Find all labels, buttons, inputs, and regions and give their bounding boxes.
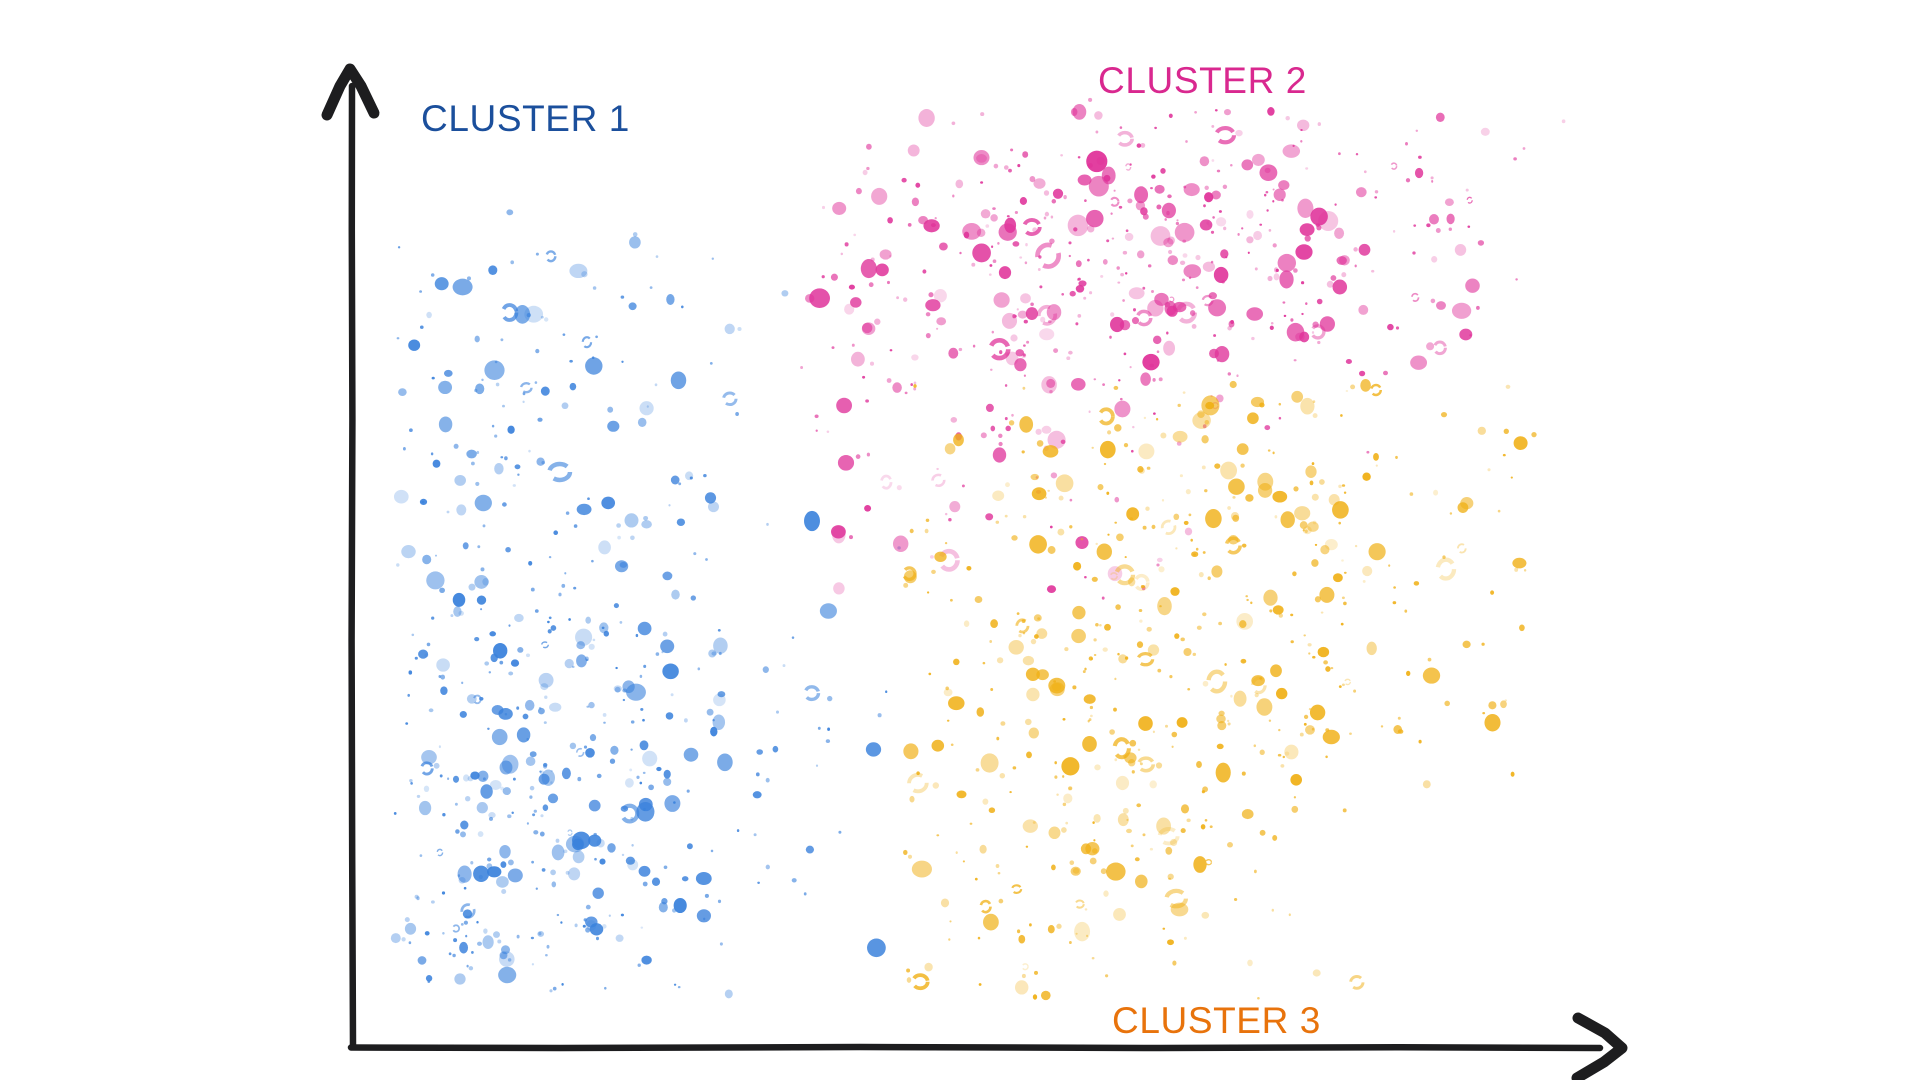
data-point — [607, 843, 615, 853]
data-point — [757, 882, 760, 884]
data-point-speck — [1240, 463, 1244, 467]
data-point — [1169, 297, 1173, 302]
data-point — [1383, 371, 1388, 376]
data-point — [1343, 808, 1347, 812]
data-point — [827, 728, 830, 731]
data-point — [655, 383, 658, 386]
data-point — [822, 206, 825, 209]
data-point — [1469, 334, 1472, 336]
data-point — [405, 923, 416, 935]
data-point — [500, 760, 513, 774]
data-point — [698, 667, 701, 670]
data-point — [1255, 267, 1258, 270]
data-point — [1239, 620, 1246, 628]
data-point — [1045, 212, 1049, 217]
data-point — [1325, 666, 1330, 672]
data-point — [989, 807, 995, 813]
data-point — [1044, 216, 1047, 219]
data-point — [1103, 647, 1108, 651]
data-point — [1367, 642, 1377, 655]
data-point — [687, 843, 693, 849]
data-point — [528, 561, 532, 566]
data-point — [1009, 640, 1024, 655]
data-point-speck — [585, 927, 590, 932]
data-point — [973, 150, 989, 165]
data-point — [1012, 241, 1019, 246]
data-point — [1185, 528, 1192, 536]
data-point — [666, 712, 674, 719]
data-point — [1004, 218, 1016, 233]
data-point-speck — [1088, 98, 1092, 102]
data-point — [1241, 659, 1247, 664]
data-point — [841, 253, 843, 256]
data-point — [1393, 586, 1396, 589]
data-point — [530, 751, 537, 757]
data-point — [1165, 725, 1168, 728]
data-point — [652, 878, 660, 887]
data-point — [1053, 680, 1056, 682]
data-point — [1562, 119, 1566, 123]
data-point — [1023, 344, 1026, 346]
data-point — [1341, 623, 1344, 626]
data-point — [1184, 264, 1202, 278]
data-point — [1229, 321, 1235, 328]
data-point — [756, 772, 760, 776]
data-point — [1201, 824, 1206, 829]
data-point — [664, 866, 668, 870]
data-point — [1005, 417, 1008, 420]
data-point — [484, 661, 489, 665]
data-point — [1458, 502, 1469, 513]
data-point — [625, 778, 634, 788]
data-point — [1362, 566, 1372, 576]
data-point — [460, 821, 468, 830]
data-point — [956, 791, 966, 799]
data-point — [616, 523, 621, 527]
data-point — [1036, 628, 1047, 639]
data-point — [1023, 656, 1034, 665]
data-point — [1038, 268, 1041, 271]
data-point — [682, 876, 689, 881]
data-point — [499, 845, 510, 858]
data-point — [1208, 576, 1211, 580]
data-point — [1272, 835, 1277, 841]
data-point — [1369, 543, 1386, 560]
data-point — [551, 625, 557, 631]
data-point — [549, 617, 552, 620]
data-point — [867, 939, 886, 958]
data-point — [1412, 294, 1419, 301]
data-point — [1290, 774, 1302, 786]
data-point — [535, 609, 539, 613]
data-point — [540, 814, 543, 817]
data-point — [477, 942, 482, 946]
data-point — [949, 501, 960, 512]
data-point — [1075, 322, 1078, 325]
data-point — [1342, 597, 1345, 600]
data-point — [1339, 685, 1342, 688]
data-point — [1068, 351, 1073, 355]
data-point — [1212, 159, 1215, 162]
data-point — [549, 703, 561, 712]
data-point-speck — [903, 583, 908, 588]
data-point — [1270, 664, 1282, 677]
data-point — [1342, 484, 1345, 487]
data-point — [562, 402, 569, 409]
data-point — [1033, 821, 1036, 824]
data-point — [453, 925, 459, 932]
data-point — [1251, 337, 1255, 340]
data-point — [1476, 306, 1480, 310]
data-point — [506, 209, 513, 215]
data-point — [1203, 296, 1213, 305]
data-point — [431, 452, 433, 455]
data-point-speck — [712, 719, 714, 721]
data-point — [548, 794, 558, 804]
data-point — [955, 180, 963, 189]
data-point — [720, 942, 723, 945]
data-point — [1137, 641, 1143, 648]
data-point — [836, 398, 852, 414]
data-point — [666, 294, 674, 305]
data-point — [1116, 776, 1129, 790]
data-point — [912, 198, 919, 207]
data-point — [1026, 846, 1028, 848]
data-point — [639, 866, 651, 877]
data-point — [1025, 261, 1027, 264]
data-point — [983, 662, 986, 665]
data-point — [1270, 326, 1274, 330]
data-point — [481, 567, 485, 571]
data-point — [516, 706, 519, 709]
data-point — [1170, 587, 1179, 596]
data-point — [1319, 587, 1334, 603]
data-point — [934, 289, 947, 302]
data-point — [1054, 761, 1057, 764]
data-point — [1031, 474, 1039, 480]
data-point — [440, 774, 443, 777]
data-point — [948, 696, 965, 710]
data-point — [892, 382, 902, 393]
data-point — [949, 920, 951, 922]
data-point — [933, 475, 945, 486]
data-point-speck — [887, 378, 892, 383]
data-point — [643, 516, 648, 521]
data-point — [409, 941, 412, 944]
data-point — [936, 468, 939, 470]
data-point — [577, 749, 584, 756]
data-point — [922, 269, 926, 273]
data-point — [463, 909, 472, 918]
data-point — [763, 666, 769, 673]
data-point — [1355, 264, 1357, 267]
data-point — [945, 542, 947, 544]
data-point — [1169, 675, 1172, 678]
data-point — [1184, 937, 1187, 940]
data-point — [998, 872, 1001, 874]
data-point — [871, 188, 887, 205]
data-point-speck — [1279, 613, 1283, 617]
data-point — [593, 833, 596, 836]
data-point — [903, 850, 907, 855]
data-point — [1163, 238, 1173, 247]
data-point — [1025, 719, 1032, 725]
data-point — [456, 504, 466, 515]
data-point-speck — [550, 870, 556, 876]
data-point-speck — [1000, 773, 1006, 779]
data-point — [1455, 244, 1466, 256]
data-point-speck — [1531, 432, 1536, 437]
data-point — [1291, 640, 1294, 643]
data-point — [604, 987, 606, 990]
data-point — [585, 357, 602, 374]
data-point — [1371, 270, 1374, 273]
data-point — [1227, 842, 1233, 847]
data-point — [1103, 259, 1108, 265]
data-point — [453, 938, 457, 942]
data-point — [1246, 210, 1253, 219]
data-point — [1366, 451, 1369, 454]
data-point — [1118, 813, 1129, 826]
data-point — [1247, 960, 1253, 967]
data-point — [1230, 695, 1232, 698]
data-point — [1153, 731, 1155, 734]
data-point — [1168, 255, 1178, 265]
data-point — [542, 770, 555, 786]
data-point — [1246, 236, 1253, 243]
data-point-speck — [1059, 496, 1064, 501]
data-point — [656, 767, 661, 771]
data-point — [1084, 199, 1087, 202]
data-point — [815, 415, 819, 419]
data-point — [469, 966, 473, 970]
data-point — [1033, 178, 1045, 189]
data-point — [640, 782, 643, 785]
data-point — [550, 781, 552, 784]
data-point — [1213, 334, 1216, 337]
data-point — [526, 757, 536, 767]
data-point — [507, 814, 511, 818]
data-point — [1187, 688, 1190, 691]
data-point — [437, 849, 442, 855]
data-point — [594, 858, 597, 861]
data-point — [1444, 701, 1450, 707]
data-point — [1515, 278, 1518, 280]
data-point — [986, 404, 994, 412]
data-point-speck — [1030, 303, 1034, 307]
data-point — [1060, 154, 1063, 156]
data-point — [1114, 497, 1119, 503]
data-point — [1131, 450, 1134, 453]
data-point — [459, 877, 466, 884]
data-point — [990, 688, 993, 691]
data-point — [852, 344, 855, 347]
data-point — [1234, 691, 1247, 707]
data-point — [707, 709, 714, 716]
data-point — [522, 401, 524, 403]
data-point-speck — [831, 274, 838, 281]
data-point-speck — [566, 511, 570, 515]
data-point — [429, 708, 434, 712]
data-point — [1267, 107, 1274, 116]
data-point — [1500, 700, 1507, 708]
data-point — [416, 896, 419, 900]
data-point — [1323, 660, 1328, 664]
data-point — [1220, 249, 1228, 258]
data-point — [1015, 211, 1018, 214]
data-point — [890, 349, 893, 351]
data-point — [989, 273, 992, 276]
data-point — [1093, 839, 1095, 841]
data-point — [523, 714, 529, 720]
data-point — [1154, 127, 1157, 129]
data-point — [513, 484, 516, 487]
data-point — [1264, 194, 1266, 197]
data-point — [1312, 656, 1315, 659]
data-point — [552, 881, 557, 887]
data-point — [642, 719, 645, 722]
data-point — [1350, 385, 1355, 390]
data-point — [487, 728, 490, 730]
data-point — [1150, 848, 1153, 851]
data-point — [1063, 718, 1066, 721]
data-point — [1087, 259, 1090, 262]
data-point — [1118, 654, 1127, 663]
data-point — [1115, 604, 1121, 610]
data-point — [1026, 688, 1039, 702]
data-point — [568, 830, 572, 835]
data-point — [640, 740, 649, 750]
data-point — [455, 829, 460, 833]
data-point-speck — [1398, 717, 1401, 720]
data-point — [1083, 297, 1086, 300]
data-point — [1297, 199, 1313, 218]
data-point — [662, 663, 678, 679]
data-point — [1197, 626, 1202, 630]
data-point — [671, 371, 686, 389]
data-point — [1041, 376, 1057, 393]
data-point — [1099, 624, 1102, 627]
data-point — [820, 603, 837, 618]
data-point — [1154, 293, 1169, 306]
data-point-speck — [870, 362, 874, 366]
data-point — [1216, 128, 1234, 142]
data-point — [1294, 506, 1310, 520]
data-point — [1202, 790, 1205, 793]
data-point — [496, 876, 509, 888]
data-point-speck — [405, 917, 410, 922]
data-point — [1123, 251, 1127, 255]
data-point — [956, 851, 958, 854]
data-point — [631, 844, 633, 847]
data-point-speck — [1195, 255, 1200, 260]
data-point — [597, 774, 602, 778]
data-point — [861, 259, 877, 278]
data-point — [1254, 870, 1257, 874]
data-point — [1056, 793, 1058, 795]
data-point — [1189, 514, 1192, 517]
data-point — [948, 518, 951, 521]
data-point — [725, 324, 735, 334]
data-point-speck — [1375, 190, 1378, 193]
data-point — [642, 751, 657, 767]
data-point — [553, 530, 558, 535]
data-point — [1180, 638, 1184, 642]
data-point — [1126, 507, 1139, 521]
data-point — [1373, 453, 1379, 461]
data-point — [492, 729, 508, 745]
data-point — [1102, 383, 1105, 386]
data-point — [862, 376, 865, 379]
data-point — [1211, 231, 1214, 234]
data-point — [587, 497, 590, 500]
data-point — [989, 264, 992, 267]
data-point — [978, 937, 980, 940]
data-point — [1192, 412, 1211, 429]
data-point — [403, 447, 406, 451]
data-point — [408, 670, 412, 674]
data-point — [1364, 170, 1367, 173]
data-point — [992, 331, 994, 334]
data-point — [1071, 629, 1086, 643]
data-point — [1023, 632, 1025, 634]
data-point — [1498, 510, 1501, 513]
data-point — [409, 428, 413, 432]
data-point — [614, 685, 622, 692]
data-point — [1061, 757, 1079, 775]
data-point — [925, 529, 929, 533]
data-point — [994, 292, 1010, 308]
data-point-speck — [1293, 486, 1298, 491]
data-point — [535, 349, 539, 353]
data-point — [1228, 479, 1245, 495]
data-point — [1029, 727, 1039, 738]
data-point — [531, 937, 534, 939]
data-point — [638, 963, 641, 966]
data-point — [455, 803, 458, 806]
data-point-speck — [1090, 706, 1093, 709]
data-point — [1358, 305, 1368, 315]
data-point — [971, 263, 975, 267]
data-point — [460, 831, 466, 837]
data-point — [1323, 730, 1340, 744]
data-point — [1020, 293, 1031, 303]
data-point — [1519, 624, 1525, 631]
data-point — [1135, 875, 1148, 889]
data-point — [915, 183, 920, 188]
data-point-speck — [1160, 432, 1166, 438]
data-point-speck — [643, 882, 648, 887]
data-point — [1092, 577, 1098, 582]
data-point — [1212, 216, 1215, 219]
data-point-speck — [1017, 308, 1019, 310]
data-point — [1022, 450, 1025, 453]
data-point-speck — [1037, 440, 1044, 447]
data-point — [1164, 218, 1166, 221]
data-point — [453, 776, 459, 783]
data-point — [1185, 140, 1188, 143]
data-point — [1308, 652, 1310, 654]
series-cluster-1 — [391, 209, 901, 998]
data-point — [822, 275, 825, 278]
data-point — [1131, 845, 1134, 848]
data-point — [927, 591, 929, 593]
data-point — [1307, 522, 1318, 532]
data-point — [684, 748, 699, 762]
data-point — [1426, 223, 1430, 227]
data-point — [1219, 210, 1222, 213]
data-point — [678, 986, 681, 988]
